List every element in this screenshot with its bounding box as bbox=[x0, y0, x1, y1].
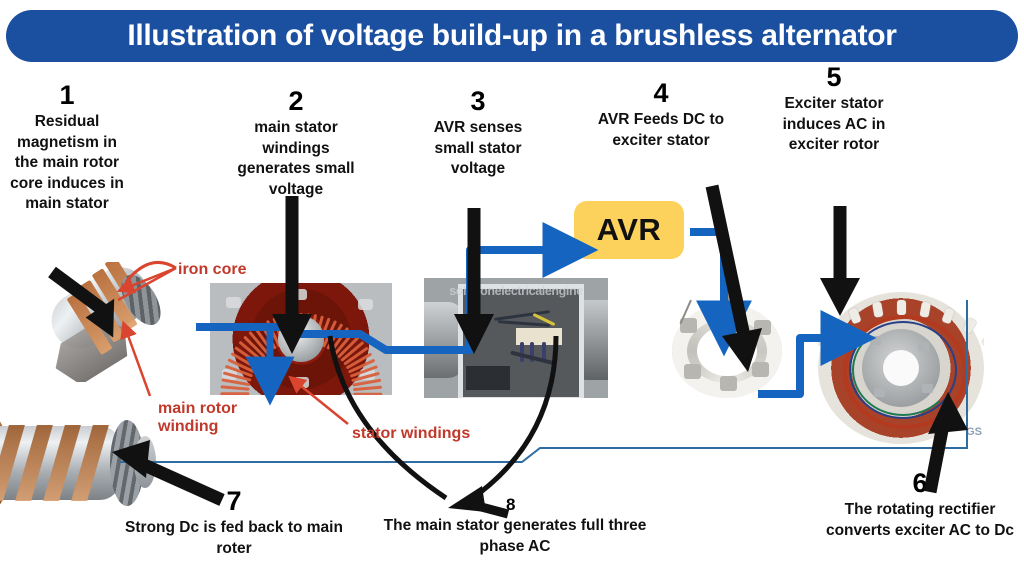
black-arrow-step5-head bbox=[820, 278, 860, 316]
black-arrow-step7-head bbox=[112, 440, 150, 478]
black-arrow-step4-head bbox=[722, 328, 762, 372]
blue-path-exciter-to-rectifier bbox=[758, 338, 838, 394]
blue-path-into-stator bbox=[196, 327, 270, 372]
black-arrow-step1 bbox=[52, 272, 106, 312]
black-curve-step8-left bbox=[330, 336, 446, 498]
black-arrow-step6-head bbox=[928, 392, 968, 434]
annotation-iron-core: iron core bbox=[178, 261, 246, 279]
red-leader-main-rotor-winding bbox=[126, 330, 150, 396]
annotation-stator-windings: stator windings bbox=[352, 425, 470, 443]
black-curve-step8-right bbox=[470, 336, 556, 500]
black-arrow-step7 bbox=[142, 464, 222, 500]
red-leader-stator-windings bbox=[296, 382, 348, 424]
connector-overlay bbox=[0, 0, 1024, 579]
black-arrow-step8-tail bbox=[470, 504, 508, 514]
red-leader-rotor-top bbox=[118, 268, 176, 300]
blue-path-stator-to-avr bbox=[196, 250, 560, 350]
illustration-canvas: Illustration of voltage build-up in a br… bbox=[0, 0, 1024, 579]
annotation-main-rotor-winding: main rotor winding bbox=[158, 400, 268, 437]
